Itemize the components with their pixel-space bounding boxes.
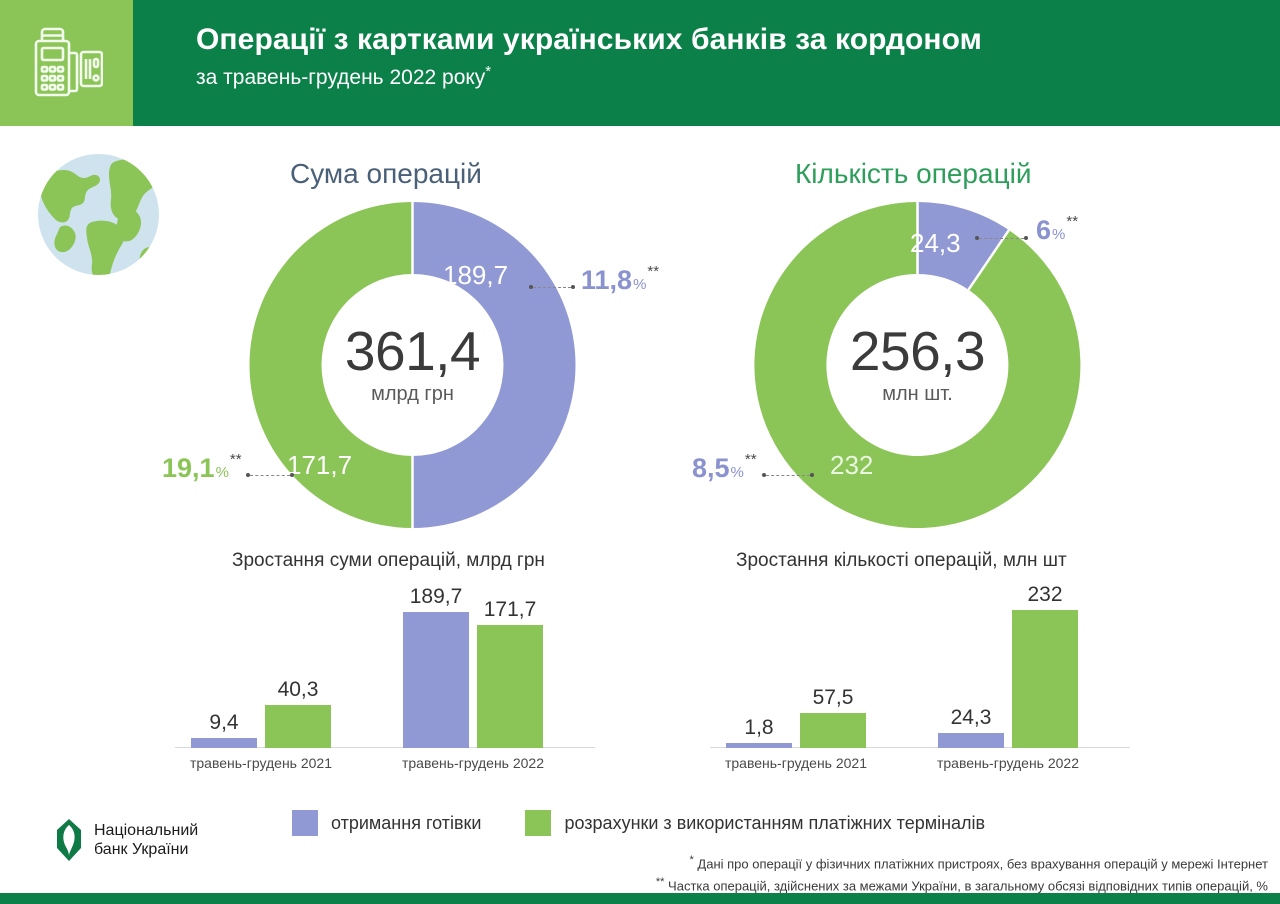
donut-count-label-cash: 24,3 (910, 228, 961, 259)
callout-amount-terminal-stars: ** (230, 451, 242, 468)
callout-count-cash: 6%** (1036, 217, 1078, 244)
globe-icon (36, 152, 161, 277)
bar-amount-group-label-2021: травень-грудень 2021 (181, 755, 341, 771)
nbu-logo-line2: банк України (94, 840, 198, 859)
bar-count-2022-cash-value: 24,3 (938, 706, 1004, 730)
footnote-1-text: Дані про операції у фізичних платіжних п… (697, 856, 1268, 871)
footnote-1: * Дані про операції у фізичних платіжних… (656, 852, 1268, 874)
leader-dot (290, 473, 294, 477)
leader-dash (979, 238, 1024, 239)
leader-line-count-cash (975, 232, 1028, 244)
bar-amount-2021-cash-value: 9,4 (191, 711, 257, 735)
bar-chart-count: 1,8 57,5 травень-грудень 2021 24,3 232 т… (710, 575, 1130, 775)
callout-amount-terminal-value: 19,1 (162, 455, 215, 482)
donut-amount-label-cash: 189,7 (443, 260, 508, 291)
legend-swatch-terminal (525, 810, 551, 836)
bar-amount-2022-cash-value: 189,7 (403, 585, 469, 609)
footnote-2-marker: ** (656, 876, 665, 888)
callout-count-cash-pctsign: % (1052, 226, 1065, 243)
legend-swatch-cash (292, 810, 318, 836)
bar-amount-2021-terminal (265, 705, 331, 748)
legend-label-terminal: розрахунки з використанням платіжних тер… (564, 813, 985, 834)
bar-chart-title-amount: Зростання суми операцій, млрд грн (232, 550, 545, 572)
callout-count-cash-value: 6 (1036, 217, 1051, 244)
bar-chart-title-count: Зростання кількості операцій, млн шт (736, 550, 1067, 572)
bar-amount-2022-terminal-value: 171,7 (477, 598, 543, 622)
header-text-block: Операції з картками українських банків з… (196, 22, 982, 90)
donut-slice-cash (413, 202, 576, 528)
legend-label-cash: отримання готівки (331, 813, 481, 834)
bar-count-2021-cash-value: 1,8 (726, 716, 792, 740)
leader-dot (810, 473, 814, 477)
bottom-bar (0, 893, 1280, 904)
bar-chart-amount: 9,4 40,3 травень-грудень 2021 189,7 171,… (175, 575, 595, 775)
legend-item-terminal: розрахунки з використанням платіжних тер… (525, 810, 985, 836)
leader-dash (250, 475, 290, 476)
bar-count-2022-terminal (1012, 610, 1078, 748)
legend-item-cash: отримання готівки (292, 810, 481, 836)
nbu-logo-line1: Національний (94, 821, 198, 840)
callout-amount-terminal-pctsign: % (216, 464, 229, 481)
pos-terminal-card-icon (31, 23, 103, 103)
bar-amount-2021-cash (191, 738, 257, 748)
donut-count-label-terminal: 232 (830, 450, 873, 481)
header-icon-container (0, 0, 133, 126)
subtitle-footnote-marker: * (485, 63, 491, 80)
nbu-logo-text: Національний банк України (94, 821, 198, 859)
globe-illustration (36, 152, 161, 277)
leader-dot (571, 285, 575, 289)
bar-count-2021-cash (726, 743, 792, 748)
callout-count-terminal-stars: ** (745, 451, 757, 468)
bar-count-2021-terminal-value: 57,5 (800, 686, 866, 710)
bar-amount-2022-cash (403, 612, 469, 748)
callout-amount-terminal: 19,1%** (162, 455, 242, 482)
bar-count-2022-terminal-value: 232 (1012, 583, 1078, 607)
callout-count-cash-stars: ** (1066, 213, 1078, 230)
bar-amount-2022-terminal (477, 625, 543, 748)
callout-count-terminal-pctsign: % (731, 464, 744, 481)
bar-amount-group-label-2022: травень-грудень 2022 (393, 755, 553, 771)
page-subtitle-text: за травень-грудень 2022 року (196, 66, 485, 89)
footnotes: * Дані про операції у фізичних платіжних… (656, 852, 1268, 896)
chart-legend: отримання готівки розрахунки з використа… (292, 810, 1029, 836)
leader-dot (1024, 236, 1028, 240)
bar-count-group-label-2022: травень-грудень 2022 (928, 755, 1088, 771)
callout-amount-cash-stars: ** (647, 263, 659, 280)
footnote-1-marker: * (690, 854, 694, 866)
callout-amount-cash-value: 11,8 (581, 267, 632, 294)
bar-count-2021-terminal (800, 713, 866, 748)
page-subtitle: за травень-грудень 2022 року* (196, 63, 982, 90)
leader-dash (766, 475, 810, 476)
callout-amount-cash: 11,8%** (581, 267, 659, 294)
leader-line-amount-terminal (246, 469, 294, 481)
bar-count-2022-cash (938, 733, 1004, 748)
callout-count-terminal: 8,5%** (692, 455, 757, 482)
bar-count-group-label-2021: травень-грудень 2021 (716, 755, 876, 771)
page-header: Операції з картками українських банків з… (0, 0, 1280, 126)
nbu-logo-icon (55, 818, 83, 862)
section-title-count: Кількість операцій (795, 158, 1031, 190)
bar-amount-2021-terminal-value: 40,3 (265, 678, 331, 702)
footnote-2-text: Частка операцій, здійснених за межами Ук… (668, 878, 1268, 893)
leader-line-amount-cash (529, 281, 575, 293)
callout-amount-cash-pctsign: % (633, 276, 646, 293)
leader-line-count-terminal (762, 469, 814, 481)
section-title-amount: Сума операцій (290, 158, 482, 190)
donut-amount-label-terminal: 171,7 (287, 450, 352, 481)
page-title: Операції з картками українських банків з… (196, 22, 982, 57)
nbu-logo: Національний банк України (55, 818, 198, 862)
leader-dash (533, 287, 571, 288)
callout-count-terminal-value: 8,5 (692, 455, 730, 482)
